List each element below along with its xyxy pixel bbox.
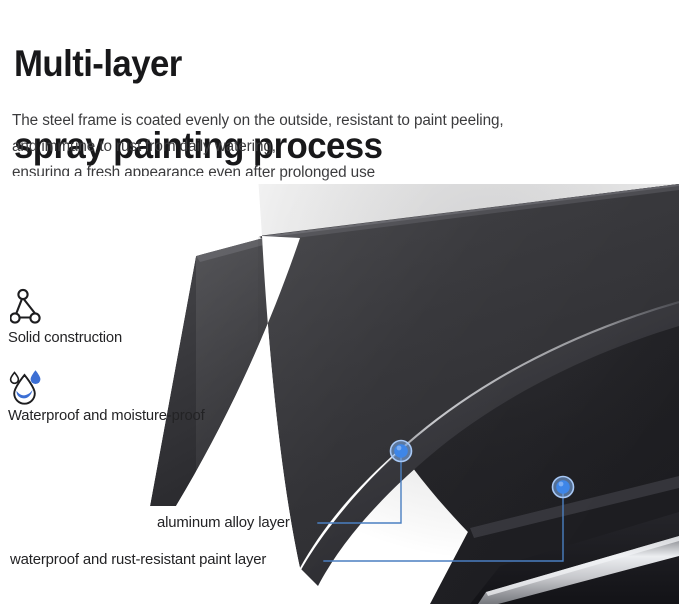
description-line-2: and immune to rust from daily watering, [12,134,662,160]
water-droplet-icon [8,366,48,406]
description-paragraph: The steel frame is coated evenly on the … [12,108,662,186]
infographic-page: Multi-layer spray painting process The s… [0,0,679,604]
feature-waterproof-label: Waterproof and moisture-proof [8,408,205,424]
panel-sheen [196,176,679,604]
headline-line-1: Multi-layer [14,43,616,84]
feature-waterproof: Waterproof and moisture-proof [8,366,205,424]
description-line-1: The steel frame is coated evenly on the … [12,108,662,134]
callout-label-aluminum-alloy-layer: aluminum alloy layer [157,515,290,531]
feature-solid-construction: Solid construction [8,288,122,346]
feature-solid-construction-label: Solid construction [8,330,122,346]
callout-label-paint-layer: waterproof and rust-resistant paint laye… [10,552,266,568]
triangle-nodes-icon [10,288,50,328]
